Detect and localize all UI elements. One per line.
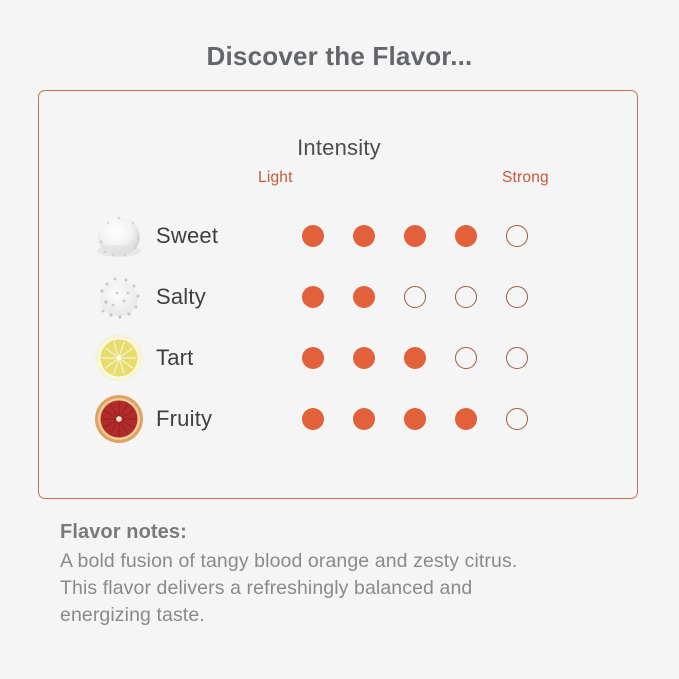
intensity-dot-filled [404, 408, 426, 430]
flavor-row: Salty [39, 266, 639, 327]
scale-label-strong: Strong [502, 169, 549, 187]
flavor-label: Tart [156, 345, 193, 371]
intensity-dot-filled [404, 225, 426, 247]
flavor-label: Sweet [156, 223, 218, 249]
intensity-dot-filled [404, 347, 426, 369]
flavor-row: Sweet [39, 205, 639, 266]
intensity-dot-filled [353, 347, 375, 369]
intensity-dot-empty [455, 347, 477, 369]
flavor-row: Fruity [39, 388, 639, 449]
flavor-notes-heading: Flavor notes: [60, 521, 640, 544]
intensity-dot-empty [506, 347, 528, 369]
intensity-dot-filled [455, 225, 477, 247]
intensity-dot-filled [302, 225, 324, 247]
flavor-rows: SweetSaltyTartFruity [39, 205, 639, 449]
flavor-notes: Flavor notes: A bold fusion of tangy blo… [60, 521, 640, 629]
intensity-dot-filled [353, 408, 375, 430]
intensity-dot-filled [353, 286, 375, 308]
intensity-heading: Intensity [39, 135, 639, 161]
intensity-dot-filled [302, 347, 324, 369]
sugar-mound-icon [93, 210, 145, 262]
flavor-label: Salty [156, 284, 206, 310]
blood-orange-slice-icon [93, 393, 145, 445]
intensity-dots [302, 408, 528, 430]
scale-label-light: Light [258, 169, 293, 187]
intensity-dots [302, 286, 528, 308]
intensity-dot-filled [302, 286, 324, 308]
lemon-slice-icon [93, 332, 145, 384]
flavor-label: Fruity [156, 406, 212, 432]
intensity-dot-empty [455, 286, 477, 308]
flavor-profile-infographic: Discover the Flavor... Intensity Light S… [0, 0, 679, 679]
intensity-dot-empty [506, 286, 528, 308]
intensity-dot-filled [302, 408, 324, 430]
intensity-dots [302, 225, 528, 247]
intensity-dot-empty [506, 225, 528, 247]
intensity-dot-filled [353, 225, 375, 247]
intensity-dots [302, 347, 528, 369]
page-title: Discover the Flavor... [0, 41, 679, 72]
flavor-notes-body: A bold fusion of tangy blood orange and … [60, 548, 640, 629]
intensity-dot-empty [506, 408, 528, 430]
flavor-row: Tart [39, 327, 639, 388]
intensity-dot-filled [455, 408, 477, 430]
intensity-dot-empty [404, 286, 426, 308]
salt-crystals-icon [93, 271, 145, 323]
flavor-intensity-card: Intensity Light Strong SweetSaltyTartFru… [38, 90, 638, 499]
